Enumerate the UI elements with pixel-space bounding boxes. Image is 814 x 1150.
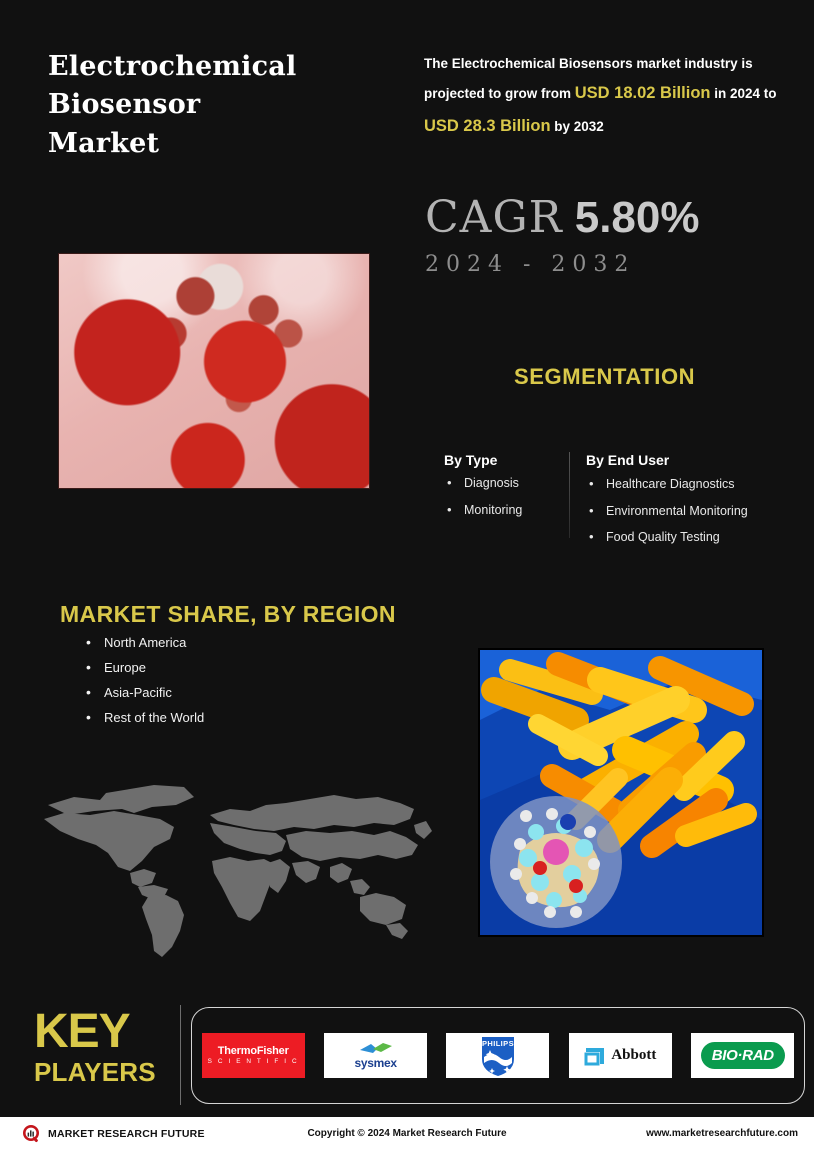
- bio-rad-pill: BIO·RAD: [701, 1042, 785, 1069]
- cagr-value: 5.80%: [575, 193, 700, 242]
- footer: MARKET RESEARCH FUTURE Copyright © 2024 …: [0, 1117, 814, 1150]
- list-item: Rest of the World: [84, 711, 204, 724]
- title-line-1: Electrochemical: [48, 48, 388, 86]
- region-list: North America Europe Asia-Pacific Rest o…: [84, 636, 204, 736]
- segment-by-end-user: By End User Healthcare Diagnostics Envir…: [586, 452, 796, 558]
- market-share-title: MARKET SHARE, BY REGION: [60, 601, 396, 628]
- cagr-line: CAGR5.80%: [425, 196, 699, 240]
- segment-by-type: By Type Diagnosis Monitoring: [444, 452, 574, 530]
- list-item: Europe: [84, 661, 204, 674]
- list-item: Healthcare Diagnostics: [586, 478, 796, 491]
- bacteria-microscopy-image: [478, 648, 764, 937]
- by-type-heading: By Type: [444, 452, 574, 468]
- key-players-line-2: PLAYERS: [34, 1059, 174, 1086]
- segmentation-title: SEGMENTATION: [514, 364, 695, 390]
- abbott-symbol-icon: [584, 1045, 606, 1067]
- thermo-fisher-sub: S C I E N T I F I C: [208, 1059, 299, 1065]
- sysmex-wordmark: sysmex: [354, 1042, 396, 1070]
- philips-name: PHILIPS: [482, 1039, 514, 1048]
- title-line-2: Biosensor: [48, 86, 388, 124]
- key-players-logo-box: ThermoFisher S C I E N T I F I C sysmex: [191, 1007, 805, 1104]
- blood-cells-image: [58, 253, 370, 489]
- abbott-name: Abbott: [611, 1047, 656, 1064]
- list-item: Asia-Pacific: [84, 686, 204, 699]
- philips-shield-icon: PHILIPS: [479, 1035, 517, 1077]
- world-map: [34, 775, 434, 965]
- list-item: Diagnosis: [444, 477, 574, 490]
- logo-thermo-fisher[interactable]: ThermoFisher S C I E N T I F I C: [202, 1033, 305, 1078]
- logo-bio-rad[interactable]: BIO·RAD: [691, 1033, 794, 1078]
- cagr-label: CAGR: [425, 192, 563, 243]
- list-item: Environmental Monitoring: [586, 505, 796, 518]
- logo-sysmex[interactable]: sysmex: [324, 1033, 427, 1078]
- logo-abbott[interactable]: Abbott: [569, 1033, 672, 1078]
- thermo-fisher-name: ThermoFisher: [208, 1046, 299, 1057]
- title-line-3: Market: [48, 125, 388, 163]
- by-end-user-list: Healthcare Diagnostics Environmental Mon…: [586, 478, 796, 544]
- page-title: Electrochemical Biosensor Market: [48, 48, 388, 163]
- sysmex-swoosh-icon: [359, 1042, 393, 1055]
- value-2032: USD 28.3 Billion: [424, 117, 551, 135]
- key-players-line-1: KEY: [34, 1008, 174, 1055]
- list-item: Monitoring: [444, 504, 574, 517]
- by-end-user-heading: By End User: [586, 452, 796, 468]
- footer-website[interactable]: www.marketresearchfuture.com: [646, 1128, 798, 1139]
- key-players-separator: [180, 1005, 181, 1105]
- infographic-page: Electrochemical Biosensor Market The Ele…: [0, 0, 814, 1150]
- summary-part-3: by 2032: [551, 119, 604, 134]
- cagr-block: CAGR5.80% 2024 - 2032: [425, 196, 699, 277]
- by-type-list: Diagnosis Monitoring: [444, 477, 574, 516]
- logo-philips[interactable]: PHILIPS: [446, 1033, 549, 1078]
- list-item: North America: [84, 636, 204, 649]
- thermo-fisher-wordmark: ThermoFisher S C I E N T I F I C: [208, 1046, 299, 1065]
- bio-rad-name: BIO·RAD: [712, 1047, 774, 1064]
- cagr-years: 2024 - 2032: [425, 252, 699, 277]
- market-summary-text: The Electrochemical Biosensors market in…: [424, 50, 796, 143]
- value-2024: USD 18.02 Billion: [575, 84, 711, 102]
- key-players-label: KEY PLAYERS: [34, 1008, 174, 1086]
- list-item: Food Quality Testing: [586, 531, 796, 544]
- summary-part-2: in 2024 to: [710, 86, 776, 101]
- sysmex-name: sysmex: [354, 1056, 396, 1070]
